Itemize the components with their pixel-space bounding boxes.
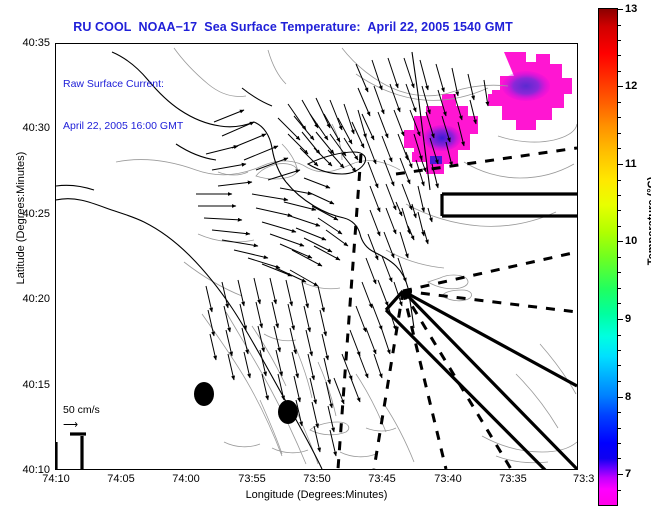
colorbar-label: 7 (625, 468, 631, 480)
colorbar-minor-tick (618, 288, 621, 289)
x-tick-label: 73:3 (573, 473, 594, 485)
colorbar-minor-tick (618, 102, 621, 103)
colorbar-minor-tick (618, 148, 621, 149)
colorbar-label: 8 (625, 391, 631, 403)
x-axis-title: Longitude (Degrees:Minutes) (55, 489, 578, 501)
map-canvas (56, 44, 577, 469)
colorbar-minor-tick (618, 428, 621, 429)
colorbar-label: 11 (625, 158, 637, 170)
x-tick-label: 73:35 (499, 473, 527, 485)
map-plot-area: Raw Surface Current: April 22, 2005 16:0… (55, 43, 578, 470)
colorbar-minor-tick (618, 55, 621, 56)
colorbar-tick (618, 164, 623, 165)
sst-patch-central (404, 94, 478, 174)
x-tick-label: 73:55 (238, 473, 266, 485)
colorbar-minor-tick (618, 443, 621, 444)
colorbar-minor-tick (618, 458, 621, 459)
colorbar-minor-tick (618, 40, 621, 41)
colorbar-minor-tick (618, 133, 621, 134)
colorbar-label: 13 (625, 3, 637, 15)
colorbar-minor-tick (618, 71, 621, 72)
colorbar-minor-tick (618, 180, 621, 181)
colorbar-label: 12 (625, 80, 637, 92)
colorbar-label: 9 (625, 313, 631, 325)
colorbar-minor-tick (618, 381, 621, 382)
colorbar-tick (618, 474, 623, 475)
y-axis-title: Latitude (Degrees:Minutes) (15, 108, 27, 328)
colorbar-minor-tick (618, 117, 621, 118)
colorbar-tick (618, 9, 623, 10)
x-tick-label: 74:05 (107, 473, 135, 485)
y-tick-label: 40:15 (10, 379, 50, 391)
colorbar-minor-tick (618, 412, 621, 413)
vector-scale-arrow-icon: ⟶ (63, 419, 100, 431)
x-tick-label: 73:45 (368, 473, 396, 485)
vector-scale-key: 50 cm/s ⟶ (63, 404, 100, 431)
colorbar-minor-tick (618, 257, 621, 258)
sst-patch-northeast (488, 52, 572, 130)
colorbar-title: Temperature (°C) (646, 141, 651, 301)
colorbar-minor-tick (618, 350, 621, 351)
temperature-colorbar (598, 8, 618, 506)
y-tick-label: 40:35 (10, 37, 50, 49)
coastline (56, 52, 430, 469)
colorbar-minor-tick (618, 365, 621, 366)
radar-station-marker (278, 400, 298, 424)
radar-station-marker (194, 382, 214, 406)
colorbar-label: 10 (625, 235, 637, 247)
x-tick-label: 73:40 (434, 473, 462, 485)
colorbar-minor-tick (618, 490, 621, 491)
colorbar-minor-tick (618, 335, 621, 336)
colorbar-tick (618, 86, 623, 87)
colorbar-minor-tick (618, 226, 621, 227)
colorbar-tick (618, 397, 623, 398)
colorbar-minor-tick (618, 25, 621, 26)
colorbar-tick (618, 241, 623, 242)
sst-map-figure: RU COOL NOAA−17 Sea Surface Temperature:… (0, 0, 651, 515)
colorbar-minor-tick (618, 195, 621, 196)
vector-scale-label: 50 cm/s (63, 404, 100, 416)
colorbar-tick (618, 319, 623, 320)
y-tick-label: 40:10 (10, 464, 50, 476)
x-tick-label: 74:00 (172, 473, 200, 485)
colorbar-minor-tick (618, 210, 621, 211)
figure-title: RU COOL NOAA−17 Sea Surface Temperature:… (0, 20, 586, 34)
colorbar-minor-tick (618, 303, 621, 304)
x-tick-label: 73:50 (303, 473, 331, 485)
radar-solid-rays (56, 194, 577, 469)
colorbar-minor-tick (618, 272, 621, 273)
